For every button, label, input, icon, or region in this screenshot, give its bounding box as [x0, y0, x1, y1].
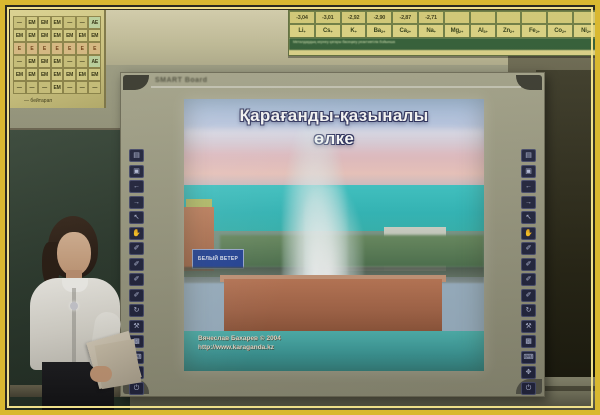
ion-symbol: Cs+	[315, 24, 341, 38]
indicator-cell: EM	[26, 55, 39, 68]
indicator-cell: EM	[13, 29, 26, 42]
camera-icon[interactable]: ▩	[521, 335, 536, 348]
indicator-cell: EM	[26, 29, 39, 42]
hand-icon[interactable]: ✋	[521, 227, 536, 240]
pen-icon[interactable]: ✐	[521, 258, 536, 271]
electrochemical-series-poster: -3,04-3,01-2,92-2,90-2,87-2,71 Li+Cs+K+B…	[288, 10, 600, 56]
potential-value	[444, 11, 470, 24]
potential-value: -2,90	[366, 11, 392, 24]
save-icon[interactable]: ▣	[129, 165, 144, 178]
indicator-cell: E	[88, 42, 101, 55]
blouse-placket	[72, 288, 76, 366]
indicator-cell: —	[13, 55, 26, 68]
slide-credit-author: Вячеслав Бахарев © 2004	[198, 334, 281, 344]
ion-symbol: Fe2+	[521, 24, 547, 38]
board-corner-top-left	[123, 75, 149, 90]
indicator-cell: EM	[38, 16, 51, 29]
indicator-cell: E	[63, 42, 76, 55]
file-icon[interactable]: ▤	[521, 149, 536, 162]
indicator-cell: EM	[76, 68, 89, 81]
hand-icon[interactable]: ✋	[129, 227, 144, 240]
ion-symbol: Al3+	[470, 24, 496, 38]
photo-frame: —EMEMEM——AEEMEMEMEMEMEMEMEEEEEEE—EMEMEM—…	[0, 0, 600, 415]
save-icon[interactable]: ▣	[521, 165, 536, 178]
slide-billboard: БЕЛЫЙ ВЕТЕР	[192, 249, 244, 269]
pen-icon[interactable]: ✐	[129, 273, 144, 286]
ion-symbols-row: Li+Cs+K+Ba2+Ca2+Na+Mg2+Al3+Zn2+Fe2+Co2+N…	[289, 24, 599, 38]
ion-symbol: Ni2+	[573, 24, 599, 38]
indicator-cell: E	[76, 42, 89, 55]
potential-value: -2,71	[418, 11, 444, 24]
potential-value: -2,92	[341, 11, 367, 24]
board-top-groove	[151, 86, 521, 88]
indicator-cell: EM	[38, 68, 51, 81]
indicator-cell: EM	[26, 16, 39, 29]
refresh-icon[interactable]: ↻	[521, 304, 536, 317]
refresh-icon[interactable]: ↻	[129, 304, 144, 317]
indicator-cell: EM	[51, 81, 64, 94]
indicator-cell: —	[76, 55, 89, 68]
file-icon[interactable]: ▤	[129, 149, 144, 162]
ion-symbol: Ba2+	[366, 24, 392, 38]
indicator-cell: EM	[51, 55, 64, 68]
indicator-cell: EM	[51, 68, 64, 81]
pen-icon[interactable]: ✐	[521, 242, 536, 255]
indicator-cell: E	[26, 42, 39, 55]
potential-value	[470, 11, 496, 24]
pen-icon[interactable]: ✐	[129, 242, 144, 255]
back-arrow-icon[interactable]: ←	[521, 180, 536, 193]
indicator-cell: E	[51, 42, 64, 55]
indicator-cell: AE	[88, 55, 101, 68]
indicator-cell: —	[26, 81, 39, 94]
interactive-whiteboard[interactable]: SMART Board ▤▣←→↖✋✐✐✐✐↻⚒▩⌨✥⏻ ▤▣←→↖✋✐✐✐✐↻…	[120, 72, 545, 397]
projected-slide: Қарағанды-қазыналы өлке БЕЛЫЙ ВЕТЕР В	[184, 99, 484, 371]
indicator-cell: EM	[38, 55, 51, 68]
tools-icon[interactable]: ⚒	[129, 320, 144, 333]
indicator-cell: E	[13, 42, 26, 55]
indicator-cell: EM	[38, 29, 51, 42]
potential-value	[521, 11, 547, 24]
ion-symbol: Li+	[289, 24, 315, 38]
cursor-icon[interactable]: ↖	[129, 211, 144, 224]
board-right-toolbar[interactable]: ▤▣←→↖✋✐✐✐✐↻⚒▩⌨✥⏻	[521, 149, 536, 395]
indicator-cell: —	[13, 16, 26, 29]
indicator-cell: EM	[13, 68, 26, 81]
move-icon[interactable]: ✥	[521, 366, 536, 379]
indicator-cell: —	[38, 81, 51, 94]
potential-value	[496, 11, 522, 24]
indicator-cell: EM	[76, 29, 89, 42]
indicator-cell: —	[63, 55, 76, 68]
hand	[90, 366, 112, 382]
indicator-table-poster: —EMEMEM——AEEMEMEMEMEMEMEMEEEEEEE—EMEMEM—…	[10, 10, 106, 108]
classroom-photo: —EMEMEM——AEEMEMEMEMEMEMEMEEEEEEE—EMEMEM—…	[10, 10, 600, 415]
slide-fountain-basin	[224, 279, 442, 337]
forward-arrow-icon[interactable]: →	[521, 196, 536, 209]
indicator-cell: EM	[88, 68, 101, 81]
indicator-cell: —	[76, 16, 89, 29]
ion-symbol: Na+	[418, 24, 444, 38]
indicator-cell: EM	[88, 29, 101, 42]
ion-symbol: Mg2+	[444, 24, 470, 38]
slide-credit-url: http://www.karaganda.kz	[198, 343, 281, 353]
keyboard-icon[interactable]: ⌨	[521, 351, 536, 364]
indicator-cell: EM	[63, 68, 76, 81]
indicator-cell: EM	[26, 68, 39, 81]
ion-symbol: Ca2+	[392, 24, 418, 38]
ion-symbol: Co2+	[547, 24, 573, 38]
pen-icon[interactable]: ✐	[129, 289, 144, 302]
tools-icon[interactable]: ⚒	[521, 320, 536, 333]
indicator-cell: EM	[51, 16, 64, 29]
indicator-cell: EM	[63, 29, 76, 42]
ion-symbol: K+	[341, 24, 367, 38]
student-presenter	[18, 216, 130, 415]
doorway-dark	[536, 70, 596, 400]
potential-value: -3,01	[315, 11, 341, 24]
forward-arrow-icon[interactable]: →	[129, 196, 144, 209]
indicator-cell: EM	[51, 29, 64, 42]
potential-value	[573, 11, 599, 24]
indicator-table-grid: —EMEMEM——AEEMEMEMEMEMEMEMEEEEEEE—EMEMEM—…	[13, 16, 101, 94]
potential-value	[547, 11, 573, 24]
pen-icon[interactable]: ✐	[129, 258, 144, 271]
pen-icon[interactable]: ✐	[521, 289, 536, 302]
potential-values-row: -3,04-3,01-2,92-2,90-2,87-2,71	[289, 11, 599, 24]
indicator-cell: —	[76, 81, 89, 94]
slide-fountain-spray	[304, 187, 364, 283]
poster-caption: Металдардың кернеу қатары басеңкеу реакт…	[289, 38, 599, 50]
ion-symbol: Zn2+	[496, 24, 522, 38]
potential-value: -3,04	[289, 11, 315, 24]
slide-credit: Вячеслав Бахарев © 2004 http://www.karag…	[198, 334, 281, 354]
indicator-cell: AE	[88, 16, 101, 29]
pen-icon[interactable]: ✐	[521, 273, 536, 286]
cursor-icon[interactable]: ↖	[521, 211, 536, 224]
indicator-cell: —	[88, 81, 101, 94]
back-arrow-icon[interactable]: ←	[129, 180, 144, 193]
indicator-cell: —	[63, 81, 76, 94]
brooch	[70, 302, 78, 310]
indicator-table-legend: — бейтарап	[24, 98, 104, 104]
potential-value: -2,87	[392, 11, 418, 24]
indicator-cell: —	[63, 16, 76, 29]
indicator-cell: —	[13, 81, 26, 94]
power-icon[interactable]: ⏻	[521, 382, 536, 395]
indicator-cell: E	[38, 42, 51, 55]
